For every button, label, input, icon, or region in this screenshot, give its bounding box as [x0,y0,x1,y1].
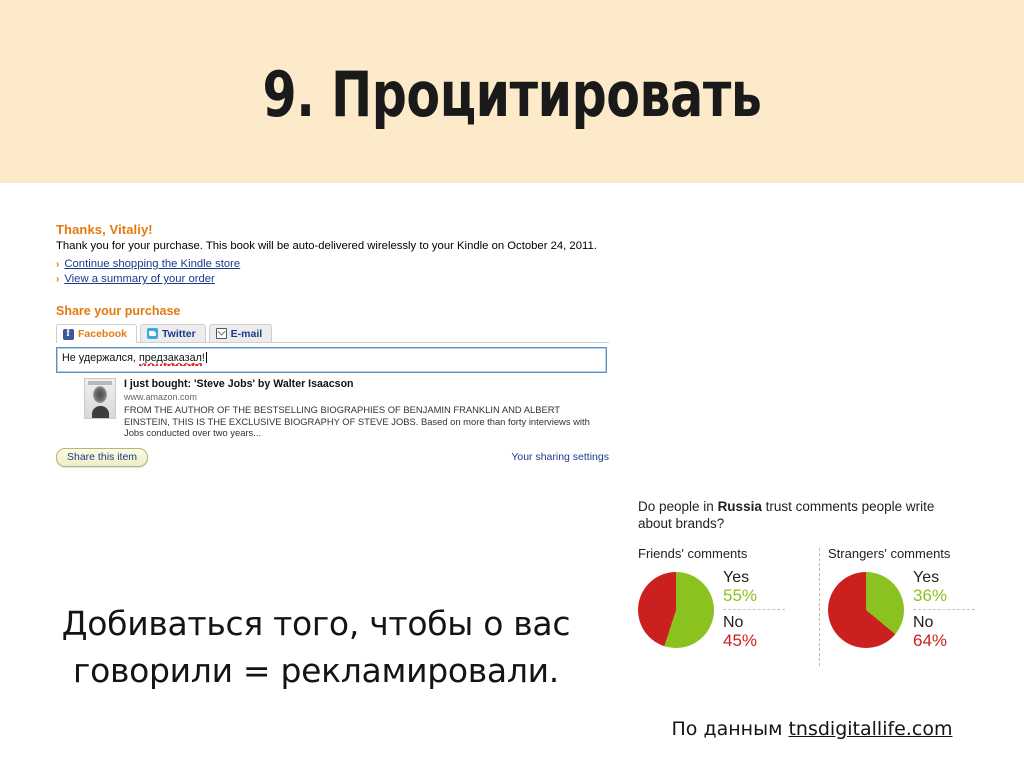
chart-friends-title: Friends' comments [638,546,808,561]
chart-strangers-row: Yes 36% No 64% [828,570,998,649]
legend-yes-value: 36% [913,587,975,604]
legend-strangers: Yes 36% No 64% [913,570,975,649]
arrow-bullet-icon: › [56,258,59,271]
legend-no-label: No [913,615,975,631]
chart-columns: Friends' comments Yes 55% No 45% Strange… [638,546,998,649]
question-part-1: Do people in [638,499,718,514]
preview-url: www.amazon.com [124,392,604,402]
legend-yes-value: 55% [723,587,785,604]
source-prefix: По данным [672,718,789,740]
preview-body: I just bought: 'Steve Jobs' by Walter Is… [124,378,604,439]
preview-title: I just bought: 'Steve Jobs' by Walter Is… [124,378,604,390]
pie-chart-friends [638,572,714,648]
preview-description: FROM THE AUTHOR OF THE BESTSELLING BIOGR… [124,404,604,439]
share-purchase-heading: Share your purchase [56,304,616,318]
statement-line-1: Добиваться того, чтобы о вас [22,600,610,647]
tab-twitter-label: Twitter [162,328,196,340]
amazon-purchase-screenshot: Thanks, Vitaliy! Thank you for your purc… [56,222,616,467]
link-row-continue-shopping[interactable]: › Continue shopping the Kindle store [56,257,616,271]
tab-email[interactable]: E-mail [209,324,273,342]
chart-friends-row: Yes 55% No 45% [638,570,808,649]
message-text-before: Не удержался, [62,352,139,364]
envelope-icon [216,328,227,339]
legend-no-label: No [723,615,785,631]
twitter-icon [147,328,158,339]
infographic-question: Do people in Russia trust comments peopl… [638,498,968,532]
continue-shopping-link[interactable]: Continue shopping the Kindle store [64,257,240,271]
share-tabs: Facebook Twitter E-mail [56,323,609,343]
legend-divider [913,609,975,610]
share-this-item-button[interactable]: Share this item [56,448,148,467]
link-row-order-summary[interactable]: › View a summary of your order [56,272,616,286]
pie-chart-strangers [828,572,904,648]
chart-friends-comments: Friends' comments Yes 55% No 45% [638,546,808,649]
legend-yes-label: Yes [723,570,785,586]
tns-infographic: Do people in Russia trust comments peopl… [638,498,998,649]
book-cover-thumbnail [84,378,116,419]
chart-strangers-comments: Strangers' comments Yes 36% No 64% [808,546,998,649]
message-text-after: ! [202,352,205,364]
purchase-confirmation-text: Thank you for your purchase. This book w… [56,239,616,253]
sharing-settings-link[interactable]: Your sharing settings [511,451,609,463]
facebook-icon [63,329,74,340]
legend-divider [723,609,785,610]
tab-email-label: E-mail [231,328,263,340]
share-message-input[interactable]: Не удержался, предзаказал! [56,347,607,373]
view-order-summary-link[interactable]: View a summary of your order [64,272,214,286]
legend-no-value: 64% [913,632,975,649]
misspelled-word: предзаказал [139,352,202,366]
tab-facebook-label: Facebook [78,328,127,340]
thanks-heading: Thanks, Vitaliy! [56,222,616,237]
source-url-link[interactable]: tnsdigitallife.com [788,718,952,740]
tab-twitter[interactable]: Twitter [140,324,206,342]
source-attribution: По данным tnsdigitallife.com [600,718,1024,740]
legend-yes-label: Yes [913,570,975,586]
text-caret [206,352,207,363]
share-footer: Share this item Your sharing settings [56,448,609,467]
legend-no-value: 45% [723,632,785,649]
tab-facebook[interactable]: Facebook [56,324,137,343]
chart-strangers-title: Strangers' comments [828,546,998,561]
arrow-bullet-icon: › [56,273,59,286]
legend-friends: Yes 55% No 45% [723,570,785,649]
shared-item-preview: I just bought: 'Steve Jobs' by Walter Is… [84,378,604,439]
slide-statement: Добиваться того, чтобы о вас говорили = … [22,600,610,694]
question-country: Russia [718,499,762,514]
statement-line-2: говорили = рекламировали. [22,647,610,694]
page-title: 9. Процитировать [61,58,962,131]
